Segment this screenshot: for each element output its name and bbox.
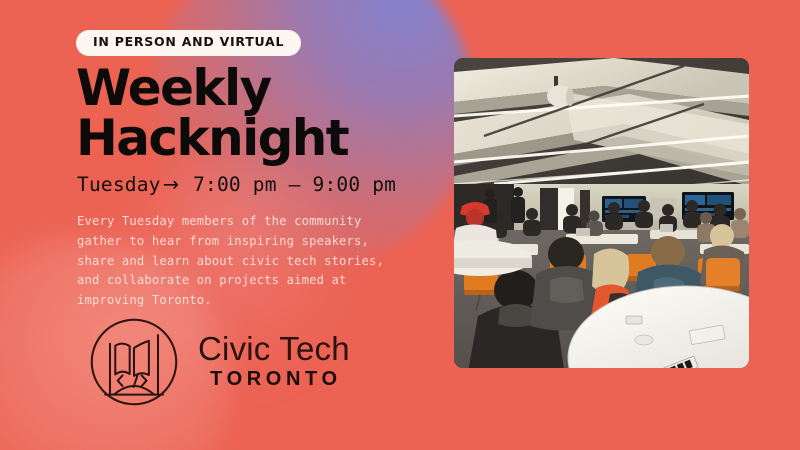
status-badge: IN PERSON AND VIRTUAL [76,30,301,56]
schedule-start-time: 7:00 pm [193,173,277,196]
logo-wordmark-secondary: TORONTO [198,367,350,392]
arrow-right-icon: → [161,175,182,195]
schedule-day: Tuesday [77,173,161,196]
event-description: Every Tuesday members of the community g… [77,212,407,311]
schedule-end-time: 9:00 pm [313,173,397,196]
weekly-hacknight-poster: IN PERSON AND VIRTUAL Weekly Hacknight T… [0,0,800,450]
page-title: Weekly Hacknight [76,64,348,163]
civic-tech-logo-mark-icon [86,314,182,410]
event-photo [454,58,749,368]
poster-text-column: IN PERSON AND VIRTUAL Weekly Hacknight T… [76,0,436,450]
event-photo-illustration [454,58,749,368]
logo-wordmark: Civic Tech TORONTO [198,332,350,392]
civic-tech-toronto-logo: Civic Tech TORONTO [86,314,350,410]
schedule-dash: – [289,173,301,196]
schedule-line: Tuesday→ 7:00 pm – 9:00 pm [77,175,396,195]
logo-wordmark-primary: Civic Tech [198,332,350,367]
angle-bracket-right-icon [142,375,147,386]
headline-line-2: Hacknight [76,109,348,167]
angle-bracket-left-icon [118,375,123,386]
